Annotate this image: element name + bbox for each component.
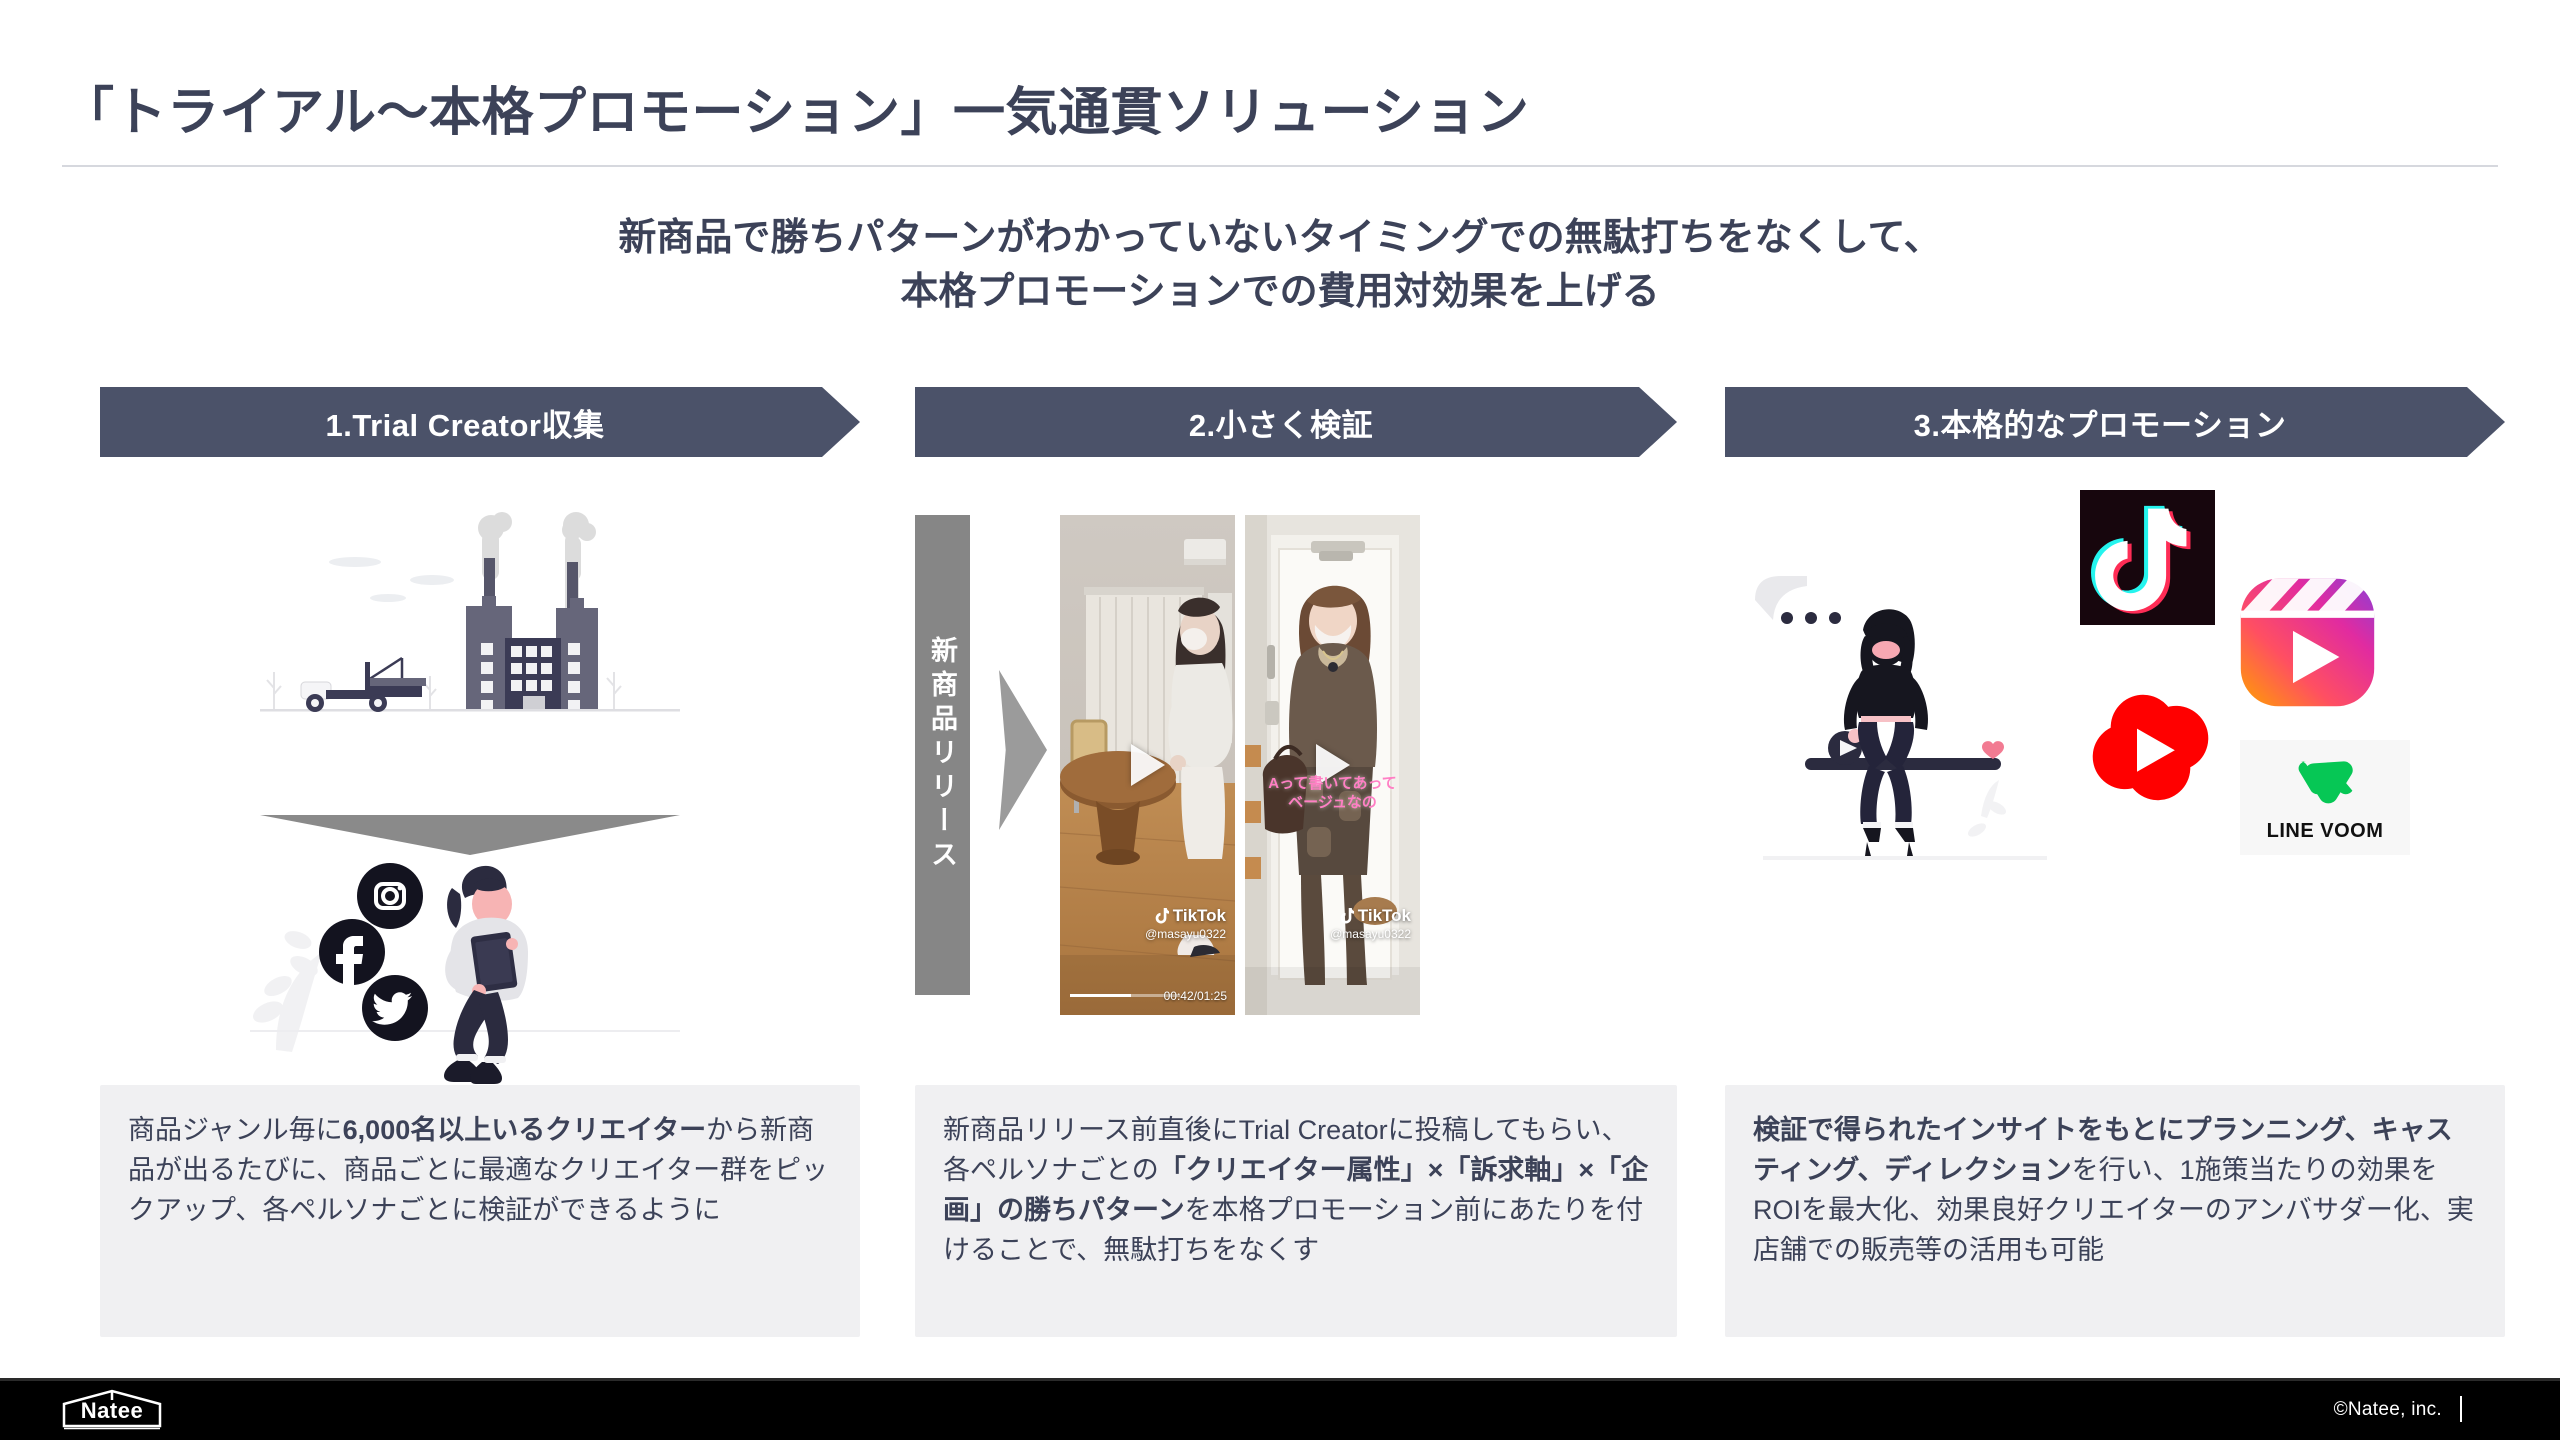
tiktok-watermark: TikTok @masayu0322 — [1145, 906, 1226, 941]
play-icon[interactable] — [1131, 744, 1165, 786]
caption-box-2: 新商品リリース前直後にTrial Creatorに投稿してもらい、各ペルソナごと… — [915, 1085, 1677, 1337]
tiktok-handle-2: @masayu0322 — [1330, 927, 1411, 941]
video-caption-line-1: Aって書いてあって — [1268, 775, 1396, 792]
subtitle: 新商品で勝ちパターンがわかっていないタイミングでの無駄打ちをなくして、 本格プロ… — [0, 212, 2560, 320]
video-thumbnail-2[interactable]: Aって書いてあって ベージュなの TikTok @masayu0322 — [1245, 515, 1420, 1015]
natee-logo[interactable]: Natee — [58, 1388, 166, 1430]
tiktok-icon — [2080, 490, 2215, 625]
step-banner-2-label: 2.小さく検証 — [1189, 400, 1373, 445]
video-thumbnail-1[interactable]: TikTok @masayu0322 00:42/01:25 — [1060, 515, 1235, 1015]
caption-box-3: 検証で得られたインサイトをもとにプランニング、キャスティング、ディレクションを行… — [1725, 1085, 2505, 1337]
factory-illustration — [260, 510, 680, 810]
tiktok-note-icon — [1339, 908, 1354, 925]
tiktok-note-icon — [1154, 908, 1169, 925]
platform-logos: LINE VOOM — [2065, 490, 2495, 890]
instagram-reels-icon — [2235, 570, 2380, 715]
step-banner-2[interactable]: 2.小さく検証 — [915, 387, 1677, 457]
footer-bar: Natee ©Natee, inc. — [0, 1378, 2560, 1440]
youtube-shorts-icon — [2083, 680, 2218, 815]
subtitle-line-1: 新商品で勝ちパターンがわかっていないタイミングでの無駄打ちをなくして、 — [0, 212, 2560, 266]
promotion-illustration — [1755, 540, 2055, 870]
page-title: 「トライアル〜本格プロモーション」一気通貫ソリューション — [62, 70, 1529, 145]
new-product-release-label: 新商品リリース — [923, 636, 962, 874]
tiktok-watermark-label: TikTok — [1173, 906, 1226, 926]
video-overlay-caption-2: Aって書いてあって ベージュなの — [1245, 775, 1420, 813]
footer-accent-bar — [2460, 1396, 2462, 1422]
footer-divider — [0, 1378, 2560, 1381]
title-divider — [62, 165, 2498, 167]
slide-root: 「トライアル〜本格プロモーション」一気通貫ソリューション 新商品で勝ちパターンが… — [0, 0, 2560, 1440]
tiktok-watermark-label: TikTok — [1358, 906, 1411, 926]
caption-1-lead: 商品ジャンル毎に — [128, 1115, 343, 1145]
video-timestamp-1: 00:42/01:25 — [1164, 989, 1227, 1003]
new-product-release-bar: 新商品リリース — [915, 515, 970, 995]
step-banner-1[interactable]: 1.Trial Creator収集 — [100, 387, 860, 457]
natee-logo-text: Natee — [58, 1388, 166, 1430]
step-banner-3-label: 3.本格的なプロモーション — [1914, 400, 2287, 445]
line-voom-label: LINE VOOM — [2267, 820, 2384, 843]
arrow-right-icon — [999, 670, 1047, 830]
creators-illustration — [240, 840, 690, 1100]
step-banner-3[interactable]: 3.本格的なプロモーション — [1725, 387, 2505, 457]
line-voom-icon: LINE VOOM — [2240, 740, 2410, 855]
step-banner-1-label: 1.Trial Creator収集 — [326, 400, 605, 445]
caption-1-bold: 6,000名以上いるクリエイター — [343, 1115, 707, 1145]
video-caption-line-2: ベージュなの — [1288, 794, 1377, 811]
caption-box-1: 商品ジャンル毎に6,000名以上いるクリエイターから新商品が出るたびに、商品ごと… — [100, 1085, 860, 1337]
tiktok-watermark: TikTok @masayu0322 — [1330, 906, 1411, 941]
copyright-text: ©Natee, inc. — [2334, 1399, 2442, 1421]
subtitle-line-2: 本格プロモーションでの費用対効果を上げる — [0, 266, 2560, 320]
tiktok-handle-1: @masayu0322 — [1145, 927, 1226, 941]
